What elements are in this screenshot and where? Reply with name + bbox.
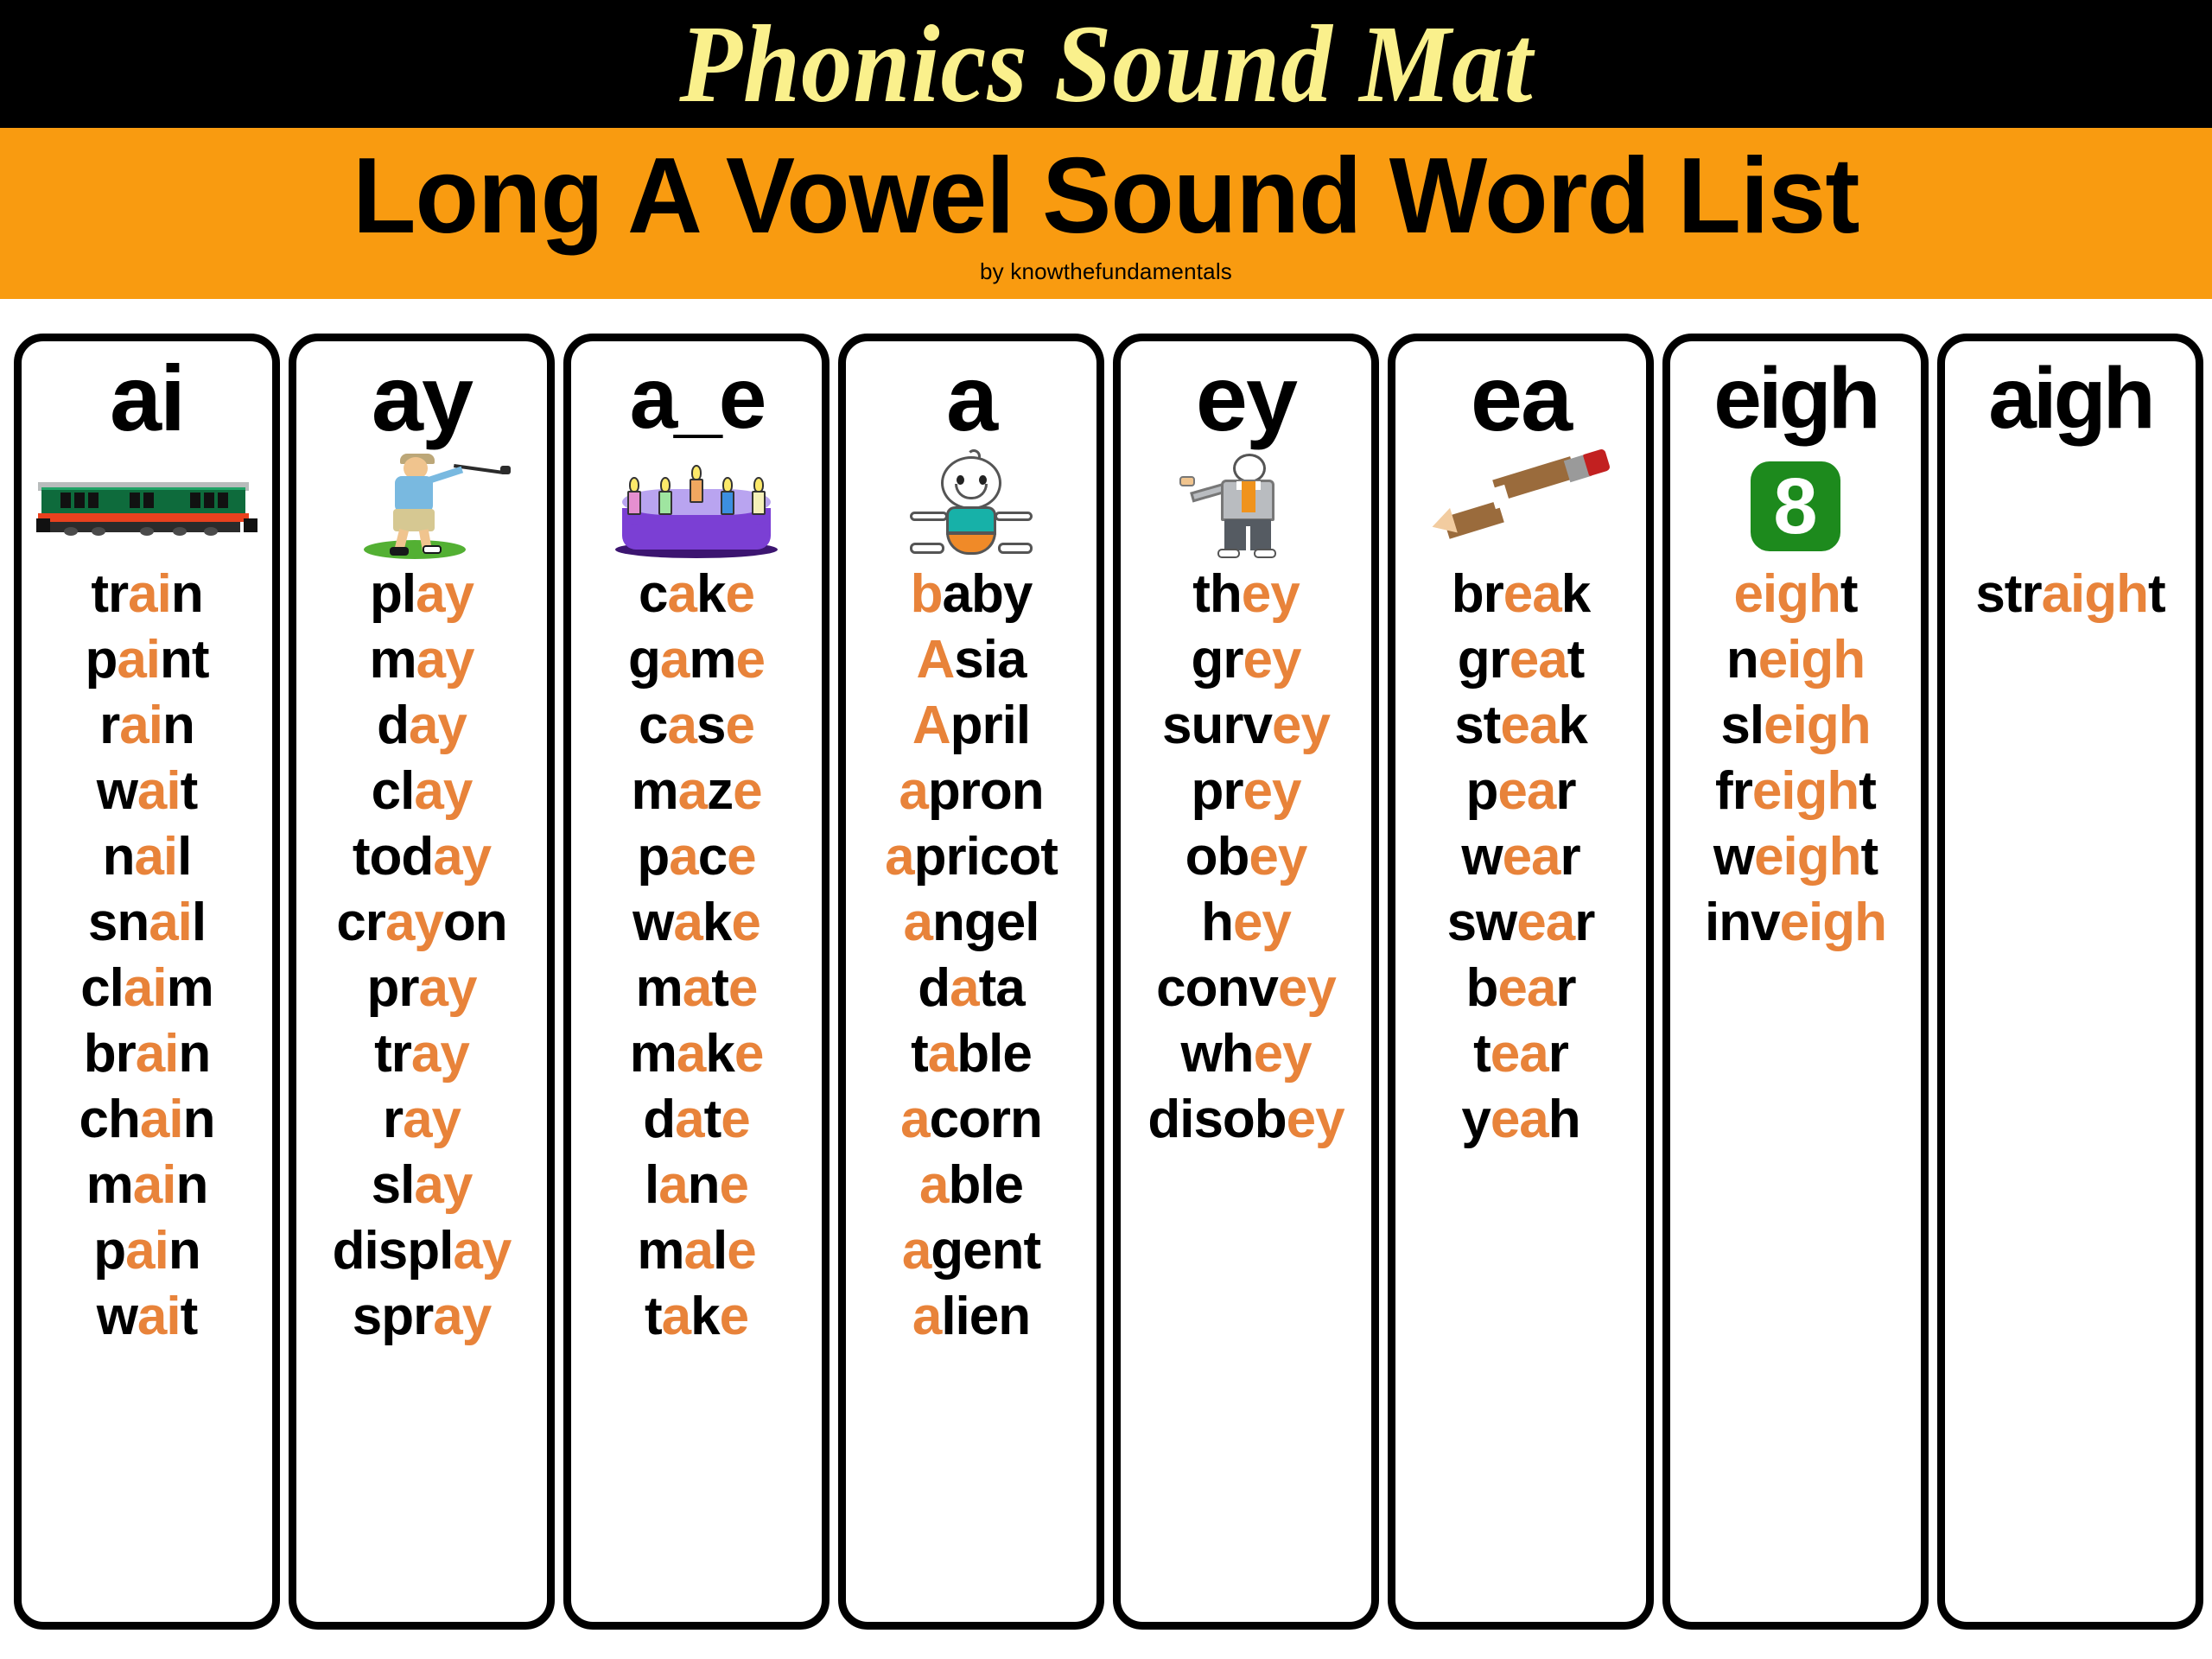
card-heading: ay <box>296 346 547 450</box>
word-item[interactable]: nail <box>103 830 192 884</box>
card-heading: eigh <box>1670 346 1921 450</box>
man-pointing-icon <box>1173 452 1319 561</box>
word-list: playmaydayclaytodaycrayonpraytrayrayslay… <box>296 568 547 1622</box>
word-item[interactable]: clay <box>372 765 473 818</box>
word-item[interactable]: brain <box>84 1027 211 1081</box>
word-item[interactable]: pace <box>637 830 755 884</box>
word-item[interactable]: survey <box>1162 699 1330 753</box>
word-list: babyAsiaAprilapronapricotangeldatatablea… <box>846 568 1096 1622</box>
word-item[interactable]: prey <box>1192 765 1301 818</box>
word-item[interactable]: baby <box>911 568 1033 621</box>
word-item[interactable]: wear <box>1461 830 1580 884</box>
word-item[interactable]: pear <box>1466 765 1576 818</box>
word-item[interactable]: table <box>911 1027 1032 1081</box>
word-item[interactable]: disobey <box>1147 1093 1344 1147</box>
word-item[interactable]: chain <box>79 1093 215 1147</box>
word-item[interactable]: crayon <box>336 896 506 950</box>
word-item[interactable]: play <box>370 568 474 621</box>
word-item[interactable]: eight <box>1733 568 1857 621</box>
word-item[interactable]: game <box>628 633 765 687</box>
number-eight-icon: 8 <box>1742 453 1849 560</box>
word-item[interactable]: weight <box>1713 830 1878 884</box>
word-item[interactable]: straight <box>1975 568 2164 621</box>
card-illustration <box>1395 452 1646 561</box>
word-item[interactable]: yeah <box>1461 1093 1580 1147</box>
word-item[interactable]: train <box>91 568 202 621</box>
word-item[interactable]: pray <box>367 962 477 1015</box>
number-eight-label: 8 <box>1751 461 1840 551</box>
word-item[interactable]: bear <box>1466 962 1576 1015</box>
word-item[interactable]: sleigh <box>1720 699 1870 753</box>
word-item[interactable]: acorn <box>900 1093 1042 1147</box>
golfer-icon <box>340 452 504 561</box>
word-item[interactable]: obey <box>1185 830 1307 884</box>
word-item[interactable]: April <box>912 699 1030 753</box>
train-icon <box>35 475 259 537</box>
card-illustration <box>1121 452 1371 561</box>
word-item[interactable]: steak <box>1454 699 1587 753</box>
word-item[interactable]: wake <box>632 896 760 950</box>
word-item[interactable]: paint <box>85 633 208 687</box>
sound-card-eigh[interactable]: eigh8eightneighsleighfreightweightinveig… <box>1662 334 1929 1630</box>
word-item[interactable]: date <box>643 1093 750 1147</box>
page-title: Phonics Sound Mat <box>679 9 1533 119</box>
word-item[interactable]: mate <box>636 962 758 1015</box>
word-item[interactable]: data <box>918 962 1025 1015</box>
word-list: cakegamecasemazepacewakematemakedatelane… <box>571 568 822 1622</box>
sound-card-a[interactable]: ababyAsiaAprilapronapricotangeldatatable… <box>838 334 1104 1630</box>
word-list: eightneighsleighfreightweightinveigh <box>1670 568 1921 1622</box>
baby-icon <box>898 453 1045 560</box>
word-item[interactable]: inveigh <box>1705 896 1886 950</box>
word-item[interactable]: rain <box>99 699 194 753</box>
word-item[interactable]: tear <box>1473 1027 1568 1081</box>
word-item[interactable]: wait <box>97 1290 198 1344</box>
word-item[interactable]: they <box>1192 568 1300 621</box>
word-item[interactable]: angel <box>904 896 1039 950</box>
broken-pencil-icon <box>1428 459 1614 554</box>
phonics-sound-mat-page: Phonics Sound Mat Long A Vowel Sound Wor… <box>0 0 2212 1659</box>
word-item[interactable]: pain <box>93 1224 200 1278</box>
subtitle-bar: Long A Vowel Sound Word List by knowthef… <box>0 128 2212 299</box>
word-item[interactable]: maze <box>631 765 761 818</box>
word-item[interactable]: apricot <box>885 830 1058 884</box>
card-illustration <box>22 452 272 561</box>
sound-card-row: aitrainpaintrainwaitnailsnailclaimbrainc… <box>14 334 2203 1630</box>
word-item[interactable]: agent <box>902 1224 1040 1278</box>
word-item[interactable]: main <box>86 1159 208 1212</box>
card-illustration <box>571 452 822 561</box>
card-heading: a <box>846 346 1096 450</box>
word-list: trainpaintrainwaitnailsnailclaimbraincha… <box>22 568 272 1622</box>
page-subtitle: Long A Vowel Sound Word List <box>353 128 1859 265</box>
word-list: theygreysurveypreyobeyheyconveywheydisob… <box>1121 568 1371 1622</box>
word-item[interactable]: Asia <box>917 633 1027 687</box>
sound-card-ea[interactable]: eabreakgreatsteakpearwearswearbeartearye… <box>1388 334 1654 1630</box>
word-item[interactable]: male <box>637 1224 755 1278</box>
word-item[interactable]: make <box>630 1027 764 1081</box>
word-item[interactable]: freight <box>1715 765 1876 818</box>
card-heading: ai <box>22 346 272 450</box>
word-item[interactable]: break <box>1452 568 1590 621</box>
sound-card-ai[interactable]: aitrainpaintrainwaitnailsnailclaimbrainc… <box>14 334 280 1630</box>
word-item[interactable]: neigh <box>1726 633 1865 687</box>
word-item[interactable]: today <box>353 830 491 884</box>
sound-card-ey[interactable]: eytheygreysurveypreyobeyheyconveywheydis… <box>1113 334 1379 1630</box>
word-item[interactable]: cake <box>639 568 754 621</box>
word-list: straight <box>1945 568 2196 1622</box>
card-heading: a_e <box>571 346 822 450</box>
word-item[interactable]: grey <box>1192 633 1301 687</box>
word-item[interactable]: spray <box>353 1290 491 1344</box>
word-item[interactable]: alien <box>912 1290 1030 1344</box>
word-item[interactable]: day <box>377 699 467 753</box>
card-illustration: 8 <box>1670 452 1921 561</box>
card-illustration <box>846 452 1096 561</box>
word-list: breakgreatsteakpearwearswearbeartearyeah <box>1395 568 1646 1622</box>
word-item[interactable]: tray <box>374 1027 469 1081</box>
word-item[interactable]: slay <box>372 1159 473 1212</box>
birthday-cake-icon <box>610 453 783 560</box>
word-item[interactable]: great <box>1458 633 1585 687</box>
word-item[interactable]: snail <box>88 896 206 950</box>
sound-card-aigh[interactable]: aighstraight <box>1937 334 2203 1630</box>
sound-card-ay[interactable]: ayplaymaydayclaytodaycrayonpraytrayraysl… <box>289 334 555 1630</box>
word-item[interactable]: case <box>639 699 754 753</box>
word-item[interactable]: claim <box>80 962 213 1015</box>
card-illustration <box>1945 452 2196 561</box>
word-item[interactable]: display <box>333 1224 512 1278</box>
word-item[interactable]: swear <box>1447 896 1595 950</box>
word-item[interactable]: ray <box>383 1093 461 1147</box>
card-illustration <box>296 452 547 561</box>
word-item[interactable]: apron <box>899 765 1043 818</box>
card-heading: ea <box>1395 346 1646 450</box>
word-item[interactable]: take <box>645 1290 748 1344</box>
word-item[interactable]: hey <box>1201 896 1291 950</box>
word-item[interactable]: able <box>919 1159 1023 1212</box>
word-item[interactable]: lane <box>645 1159 748 1212</box>
card-heading: ey <box>1121 346 1371 450</box>
word-item[interactable]: whey <box>1180 1027 1311 1081</box>
word-item[interactable]: may <box>369 633 474 687</box>
word-item[interactable]: wait <box>97 765 198 818</box>
card-heading: aigh <box>1945 346 2196 450</box>
word-item[interactable]: convey <box>1156 962 1336 1015</box>
title-bar: Phonics Sound Mat <box>0 0 2212 128</box>
sound-card-a-e[interactable]: a_ecakegamecasemazepacewakematemakedatel… <box>563 334 829 1630</box>
